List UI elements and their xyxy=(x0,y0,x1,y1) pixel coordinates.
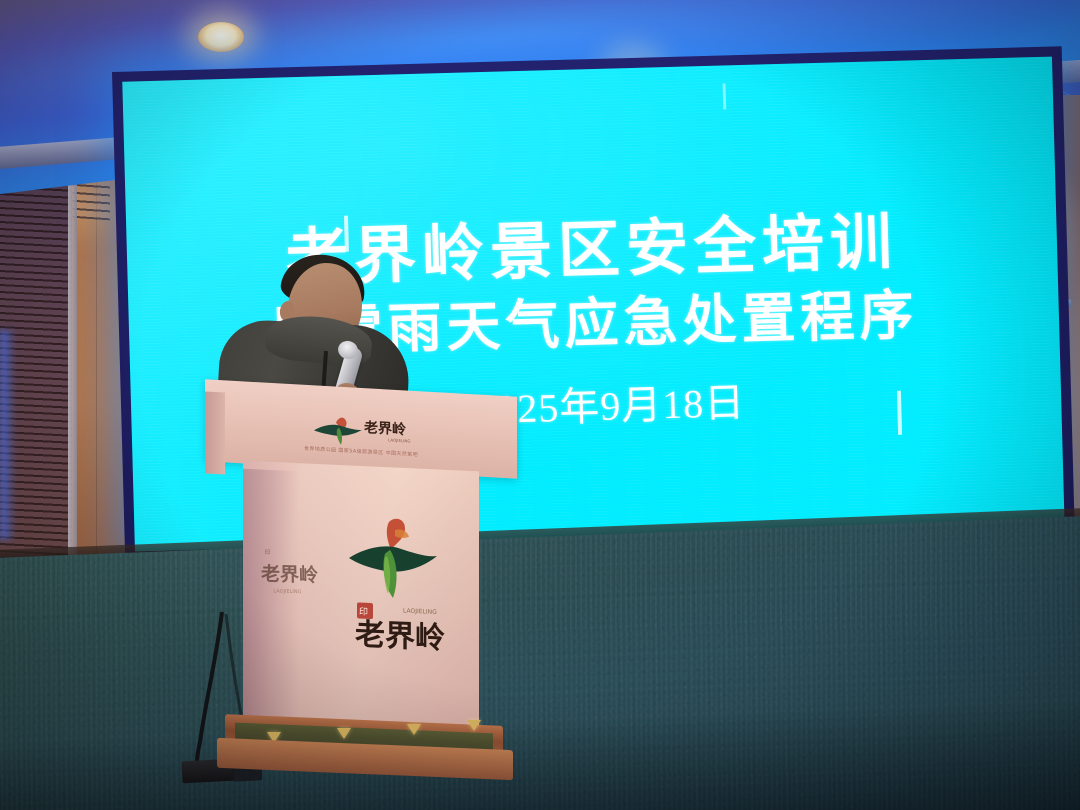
lectern: 老界岭 LAOJIELING 世界地质公园 国家5A级旅游景区 中国天然氧吧 印… xyxy=(205,388,517,788)
brass-accent xyxy=(467,720,481,731)
conference-room-photo: 老界岭景区安全培训 风雷雨天气应急处置程序 2025年9月18日 xyxy=(0,0,1080,810)
laojieling-logo-icon: 印 老界岭 LAOJIELING xyxy=(258,540,329,606)
svg-text:老界岭: 老界岭 xyxy=(364,419,406,438)
svg-text:老界岭: 老界岭 xyxy=(355,617,445,654)
panel-trim xyxy=(68,120,77,570)
svg-text:印: 印 xyxy=(359,605,368,617)
blue-edge-glow xyxy=(0,330,16,540)
svg-text:印: 印 xyxy=(265,549,271,556)
brass-accent xyxy=(337,728,351,739)
lectern-front-logo: 印 LAOJIELING 老界岭 xyxy=(333,513,453,658)
lectern-side-logo: 印 老界岭 LAOJIELING xyxy=(256,537,331,609)
svg-text:LAOJIELING: LAOJIELING xyxy=(388,437,411,443)
brass-accent xyxy=(407,724,421,735)
svg-text:老界岭: 老界岭 xyxy=(261,562,318,587)
ceiling-downlight xyxy=(198,22,244,52)
lectern-top-side xyxy=(205,391,225,474)
svg-text:LAOJIELING: LAOJIELING xyxy=(403,607,437,616)
laojieling-logo-icon: 印 LAOJIELING 老界岭 xyxy=(335,513,451,654)
svg-text:LAOJIELING: LAOJIELING xyxy=(273,588,301,595)
